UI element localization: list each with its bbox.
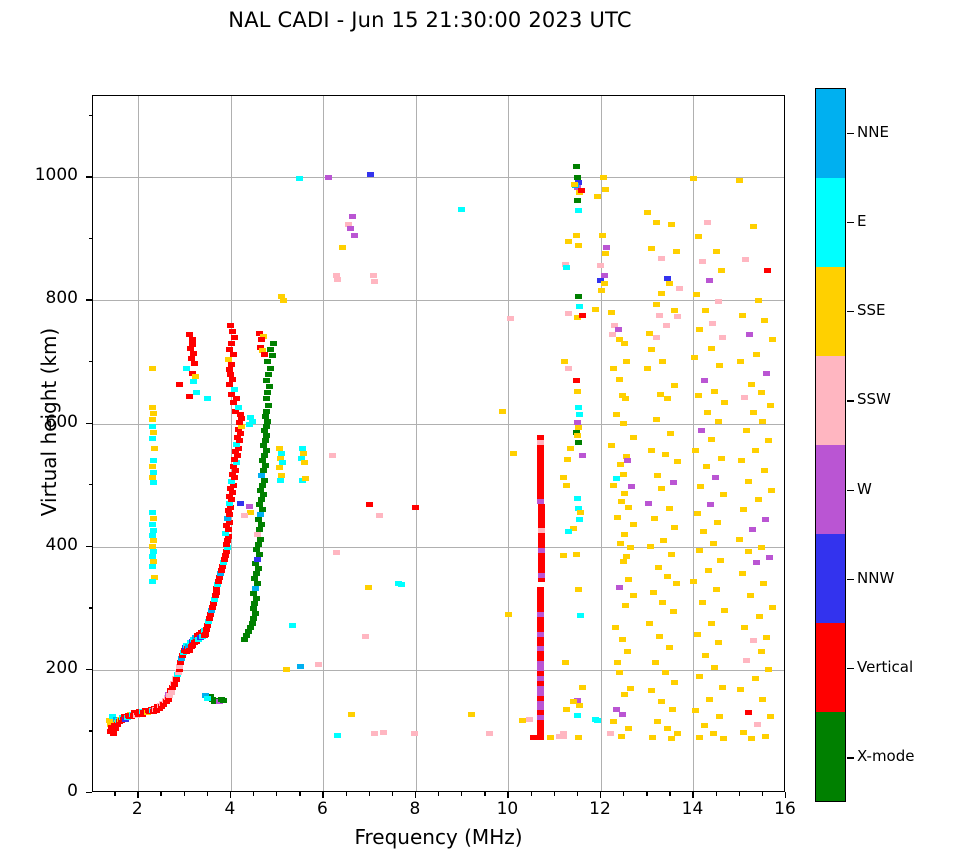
- data-point: [692, 448, 699, 453]
- data-point: [204, 696, 211, 701]
- data-point: [697, 484, 704, 489]
- data-point: [762, 517, 769, 522]
- data-point: [663, 323, 670, 328]
- data-point: [573, 233, 580, 238]
- data-point: [646, 331, 653, 336]
- data-point: [225, 357, 232, 362]
- data-point: [668, 222, 675, 227]
- data-point: [651, 516, 658, 521]
- data-point: [538, 504, 545, 509]
- data-point: [563, 707, 570, 712]
- data-point: [655, 565, 662, 570]
- data-point: [738, 458, 745, 463]
- data-point: [758, 390, 765, 395]
- data-point: [647, 544, 654, 549]
- data-point: [646, 621, 653, 626]
- data-point: [699, 600, 706, 605]
- data-point: [190, 379, 197, 384]
- data-point: [618, 734, 625, 739]
- data-point: [599, 233, 606, 238]
- data-point: [254, 581, 261, 586]
- x-tick-mark: [415, 792, 416, 798]
- data-point: [230, 352, 237, 357]
- data-point: [761, 468, 768, 473]
- data-point: [750, 638, 757, 643]
- data-point: [176, 382, 183, 387]
- colorbar-segment-w: [816, 445, 845, 534]
- data-point: [229, 329, 236, 334]
- data-point: [669, 707, 676, 712]
- data-point: [263, 378, 270, 383]
- data-point: [574, 433, 581, 438]
- data-point: [748, 736, 755, 741]
- data-point: [702, 653, 709, 658]
- data-point: [265, 372, 272, 377]
- data-point: [537, 435, 544, 440]
- data-point: [752, 676, 759, 681]
- data-point: [714, 520, 721, 525]
- data-point: [257, 537, 264, 542]
- data-point: [258, 497, 265, 502]
- x-tick-label: 4: [200, 799, 260, 819]
- data-point: [579, 685, 586, 690]
- data-point: [538, 548, 545, 553]
- data-point: [254, 557, 261, 562]
- data-point: [758, 649, 765, 654]
- data-point: [538, 538, 545, 543]
- x-tick-mark: [785, 792, 786, 798]
- x-minor-tick: [716, 792, 717, 796]
- data-point: [228, 341, 235, 346]
- y-tick-mark: [86, 176, 92, 177]
- data-point: [607, 731, 614, 736]
- data-point: [367, 172, 374, 177]
- data-point: [653, 220, 660, 225]
- data-point: [576, 517, 583, 522]
- data-point: [577, 613, 584, 618]
- data-point: [574, 198, 581, 203]
- colorbar-label-sse: SSE: [857, 301, 886, 319]
- data-point: [653, 335, 660, 340]
- colorbar-tick: [847, 757, 854, 758]
- x-minor-tick: [160, 792, 161, 796]
- data-point: [561, 359, 568, 364]
- data-point: [707, 502, 714, 507]
- data-point: [150, 411, 157, 416]
- data-point: [486, 731, 493, 736]
- data-point: [752, 448, 759, 453]
- x-minor-tick: [554, 792, 555, 796]
- data-point: [269, 353, 276, 358]
- y-minor-tick: [89, 361, 93, 362]
- data-point: [627, 686, 634, 691]
- data-point: [258, 337, 265, 342]
- data-point: [537, 469, 544, 474]
- data-point: [696, 327, 703, 332]
- data-point: [648, 246, 655, 251]
- data-point: [261, 478, 268, 483]
- data-point: [362, 634, 369, 639]
- data-point: [370, 273, 377, 278]
- data-point: [526, 717, 533, 722]
- data-point: [227, 323, 234, 328]
- data-point: [601, 281, 608, 286]
- data-point: [255, 517, 262, 522]
- y-minor-tick: [89, 115, 93, 116]
- colorbar-tick: [847, 668, 854, 669]
- data-point: [257, 488, 264, 493]
- data-point: [703, 464, 710, 469]
- data-point: [753, 560, 760, 565]
- data-point: [713, 587, 720, 592]
- data-point: [658, 291, 665, 296]
- data-point: [754, 722, 761, 727]
- data-point: [149, 522, 156, 527]
- data-point: [710, 731, 717, 736]
- data-point: [348, 712, 355, 717]
- data-point: [547, 735, 554, 740]
- x-minor-tick: [577, 792, 578, 796]
- data-point: [173, 677, 180, 682]
- data-point: [149, 405, 156, 410]
- data-point: [618, 499, 625, 504]
- data-point: [538, 528, 545, 533]
- colorbar-segment-vertical: [816, 623, 845, 712]
- data-point: [150, 430, 157, 435]
- data-point: [347, 226, 354, 231]
- data-point: [628, 484, 635, 489]
- data-point: [694, 632, 701, 637]
- data-point: [739, 313, 746, 318]
- data-point: [263, 396, 270, 401]
- x-minor-tick: [392, 792, 393, 796]
- data-point: [537, 440, 544, 445]
- y-tick-mark: [86, 299, 92, 300]
- data-point: [562, 660, 569, 665]
- data-point: [537, 494, 544, 499]
- data-point: [699, 259, 706, 264]
- data-point: [658, 486, 665, 491]
- data-point: [617, 462, 624, 467]
- data-point: [325, 175, 332, 180]
- data-point: [110, 731, 117, 736]
- data-point: [235, 405, 242, 410]
- data-point: [510, 451, 517, 456]
- data-point: [602, 251, 609, 256]
- data-point: [622, 396, 629, 401]
- data-point: [616, 585, 623, 590]
- data-point: [664, 574, 671, 579]
- data-point: [366, 502, 373, 507]
- data-point: [648, 347, 655, 352]
- data-point: [718, 456, 725, 461]
- data-point: [253, 571, 260, 576]
- data-point: [671, 383, 678, 388]
- data-point: [538, 508, 545, 513]
- colorbar-segment-x-mode: [816, 712, 845, 801]
- data-point: [255, 542, 262, 547]
- data-point: [573, 378, 580, 383]
- data-point: [627, 545, 634, 550]
- data-point: [653, 417, 660, 422]
- data-point: [719, 685, 726, 690]
- x-minor-tick: [276, 792, 277, 796]
- data-point: [297, 664, 304, 669]
- data-point: [537, 464, 544, 469]
- data-point: [241, 513, 248, 518]
- data-point: [380, 730, 387, 735]
- y-tick-mark: [86, 423, 92, 424]
- colorbar-segment-nne: [816, 89, 845, 178]
- y-minor-tick: [89, 730, 93, 731]
- data-point: [575, 587, 582, 592]
- data-point: [755, 298, 762, 303]
- data-point: [563, 483, 570, 488]
- data-point: [719, 335, 726, 340]
- data-point: [763, 371, 770, 376]
- data-point: [255, 566, 262, 571]
- data-point: [258, 473, 265, 478]
- data-point: [745, 710, 752, 715]
- data-point: [623, 359, 630, 364]
- ionogram-figure: NAL CADI - Jun 15 21:30:00 2023 UTC 2468…: [0, 0, 958, 857]
- data-point: [648, 448, 655, 453]
- data-point: [708, 437, 715, 442]
- data-point: [671, 525, 678, 530]
- data-point: [264, 419, 271, 424]
- data-point: [745, 479, 752, 484]
- data-point: [654, 473, 661, 478]
- data-point: [262, 463, 269, 468]
- data-point: [741, 395, 748, 400]
- data-point: [565, 366, 572, 371]
- data-point: [560, 553, 567, 558]
- y-tick-label: 1000: [0, 165, 78, 185]
- data-point: [280, 298, 287, 303]
- data-point: [598, 288, 605, 293]
- data-point: [745, 549, 752, 554]
- data-point: [712, 475, 719, 480]
- data-point: [263, 409, 270, 414]
- data-point: [560, 475, 567, 480]
- colorbar-tick: [847, 222, 854, 223]
- x-minor-tick: [646, 792, 647, 796]
- data-point: [412, 505, 419, 510]
- data-point: [759, 697, 766, 702]
- data-point: [613, 412, 620, 417]
- data-point: [351, 233, 358, 238]
- x-minor-tick: [299, 792, 300, 796]
- data-point: [713, 249, 720, 254]
- data-point: [759, 419, 766, 424]
- data-point: [666, 506, 673, 511]
- data-point: [537, 479, 544, 484]
- data-point: [250, 616, 257, 621]
- colorbar-label-e: E: [857, 212, 866, 230]
- data-point: [659, 600, 666, 605]
- data-point: [700, 529, 707, 534]
- data-point: [149, 579, 156, 584]
- data-point: [538, 558, 545, 563]
- y-minor-tick: [89, 238, 93, 239]
- data-point: [693, 292, 700, 297]
- data-point: [226, 367, 233, 372]
- y-axis-title: Virtual height (km): [37, 212, 61, 632]
- data-point: [283, 667, 290, 672]
- data-point: [653, 302, 660, 307]
- data-point: [704, 410, 711, 415]
- data-point: [252, 586, 259, 591]
- x-minor-tick: [346, 792, 347, 796]
- data-point: [674, 314, 681, 319]
- data-point: [257, 512, 264, 517]
- data-point: [625, 505, 632, 510]
- data-point: [468, 712, 475, 717]
- data-point: [575, 208, 582, 213]
- data-point: [645, 501, 652, 506]
- data-point: [620, 472, 627, 477]
- data-point: [625, 726, 632, 731]
- data-point: [710, 541, 717, 546]
- data-point: [259, 507, 266, 512]
- data-point: [716, 363, 723, 368]
- data-point: [567, 446, 574, 451]
- data-point: [376, 513, 383, 518]
- data-point: [249, 621, 256, 626]
- data-point: [538, 533, 545, 538]
- data-point: [720, 492, 727, 497]
- data-point: [600, 175, 607, 180]
- data-point: [575, 735, 582, 740]
- data-point: [630, 522, 637, 527]
- data-point: [736, 178, 743, 183]
- data-point: [737, 359, 744, 364]
- colorbar-segment-e: [816, 178, 845, 267]
- data-point: [149, 366, 156, 371]
- data-point: [538, 523, 545, 528]
- data-point: [576, 412, 583, 417]
- data-point: [743, 428, 750, 433]
- data-point: [673, 581, 680, 586]
- y-tick-label: 0: [0, 781, 78, 801]
- data-point: [706, 697, 713, 702]
- x-tick-label: 6: [292, 799, 352, 819]
- y-minor-tick: [89, 607, 93, 608]
- data-point: [704, 220, 711, 225]
- colorbar-label-vertical: Vertical: [857, 658, 913, 676]
- data-point: [662, 452, 669, 457]
- x-minor-tick: [369, 792, 370, 796]
- data-point: [659, 359, 666, 364]
- data-point: [250, 606, 257, 611]
- data-point: [564, 457, 571, 462]
- data-point: [228, 362, 235, 367]
- data-point: [253, 596, 260, 601]
- data-point: [696, 735, 703, 740]
- data-point: [624, 649, 631, 654]
- data-point: [715, 419, 722, 424]
- data-point: [692, 708, 699, 713]
- data-point: [622, 603, 629, 608]
- data-point: [594, 718, 601, 723]
- data-point: [530, 735, 537, 740]
- y-tick-mark: [86, 669, 92, 670]
- data-point: [695, 393, 702, 398]
- data-point: [579, 313, 586, 318]
- data-point: [220, 698, 227, 703]
- data-point: [743, 658, 750, 663]
- x-axis-title: Frequency (MHz): [92, 825, 785, 849]
- data-point: [749, 527, 756, 532]
- data-point: [701, 723, 708, 728]
- data-point: [537, 484, 544, 489]
- data-point: [621, 532, 628, 537]
- data-point: [538, 513, 545, 518]
- data-point: [507, 316, 514, 321]
- data-point: [613, 476, 620, 481]
- data-point: [260, 468, 267, 473]
- x-minor-tick: [461, 792, 462, 796]
- data-point: [624, 458, 631, 463]
- plot-area: [92, 95, 785, 792]
- data-point: [262, 438, 269, 443]
- data-point: [721, 400, 728, 405]
- y-tick-mark: [86, 792, 92, 793]
- data-point: [263, 433, 270, 438]
- data-point: [277, 478, 284, 483]
- data-point: [695, 234, 702, 239]
- data-point: [742, 257, 749, 262]
- data-point: [766, 555, 773, 560]
- data-point: [690, 579, 697, 584]
- data-point: [371, 279, 378, 284]
- data-point: [621, 692, 628, 697]
- x-tick-mark: [692, 792, 693, 798]
- data-point: [755, 497, 762, 502]
- data-point: [610, 719, 617, 724]
- data-point: [256, 502, 263, 507]
- data-point: [538, 518, 545, 523]
- data-point: [228, 392, 235, 397]
- data-point: [575, 294, 582, 299]
- data-point: [762, 734, 769, 739]
- data-point: [266, 384, 273, 389]
- data-point: [538, 543, 545, 548]
- data-point: [505, 612, 512, 617]
- colorbar-label-nnw: NNW: [857, 569, 894, 587]
- data-point: [193, 390, 200, 395]
- data-point: [149, 424, 156, 429]
- data-point: [371, 731, 378, 736]
- data-point: [625, 577, 632, 582]
- data-point: [656, 634, 663, 639]
- data-point: [666, 645, 673, 650]
- x-minor-tick: [114, 792, 115, 796]
- data-point: [263, 424, 270, 429]
- data-point: [747, 593, 754, 598]
- data-point: [333, 550, 340, 555]
- data-point: [701, 378, 708, 383]
- data-point: [763, 635, 770, 640]
- data-point: [706, 278, 713, 283]
- x-tick-label: 2: [107, 799, 167, 819]
- data-point: [186, 394, 193, 399]
- data-point: [334, 733, 341, 738]
- data-point: [690, 176, 697, 181]
- colorbar-tick: [847, 579, 854, 580]
- data-point: [608, 310, 615, 315]
- data-point: [263, 448, 270, 453]
